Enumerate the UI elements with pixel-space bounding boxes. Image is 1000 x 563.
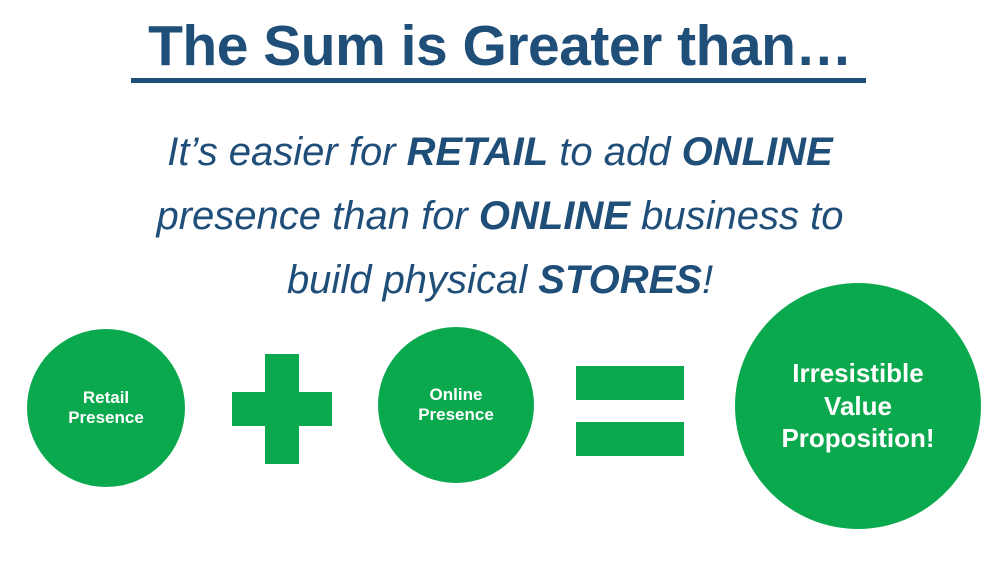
- equals-icon: [576, 366, 684, 456]
- equals-icon-bottom-bar: [576, 422, 684, 456]
- title-block: The Sum is Greater than…: [0, 12, 1000, 80]
- plus-icon-vertical-bar: [265, 354, 299, 464]
- body-line-3-part-a: build physical: [287, 258, 538, 302]
- body-line-2-part-c: business to: [630, 194, 843, 238]
- body-line-1-emphasis-retail: RETAIL: [407, 130, 548, 174]
- page-title: The Sum is Greater than…: [148, 12, 852, 80]
- online-presence-label: Online Presence: [418, 385, 494, 424]
- body-line-3-emphasis-stores: STORES: [538, 258, 702, 302]
- plus-icon: [232, 354, 332, 464]
- body-line-3-part-c: !: [702, 258, 713, 302]
- body-line-2-emphasis-online: ONLINE: [479, 194, 630, 238]
- body-line-1-part-a: It’s easier for: [167, 130, 406, 174]
- body-line-1: It’s easier for RETAIL to add ONLINE: [0, 120, 1000, 184]
- value-proposition-circle: Irresistible Value Proposition!: [735, 283, 981, 529]
- slide-canvas: The Sum is Greater than… It’s easier for…: [0, 0, 1000, 563]
- body-line-2: presence than for ONLINE business to: [0, 184, 1000, 248]
- body-line-2-part-a: presence than for: [156, 194, 478, 238]
- equals-icon-top-bar: [576, 366, 684, 400]
- title-underline-rule: [131, 78, 866, 83]
- retail-presence-label: Retail Presence: [68, 388, 144, 427]
- body-line-1-emphasis-online: ONLINE: [682, 130, 833, 174]
- online-presence-circle: Online Presence: [378, 327, 534, 483]
- retail-presence-circle: Retail Presence: [27, 329, 185, 487]
- value-proposition-label: Irresistible Value Proposition!: [781, 357, 934, 455]
- body-line-1-part-c: to add: [548, 130, 681, 174]
